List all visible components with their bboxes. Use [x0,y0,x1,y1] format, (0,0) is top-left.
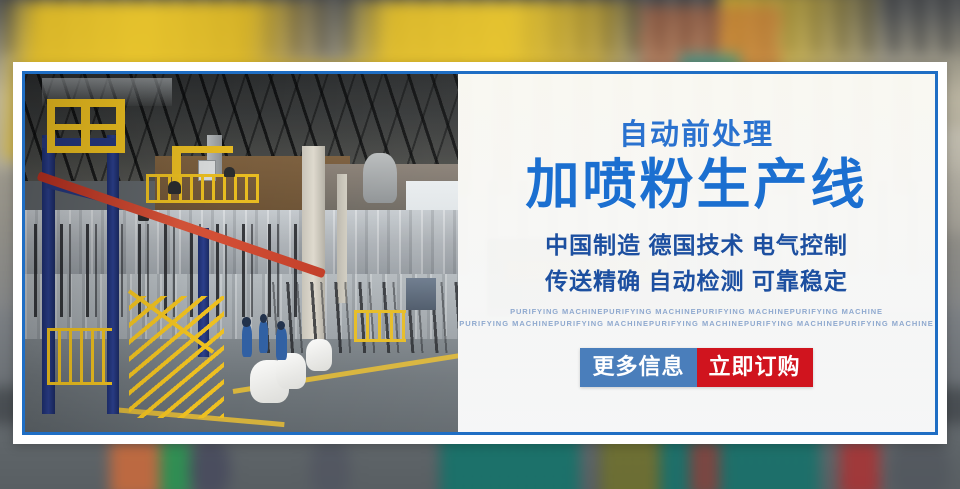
banner-card-inner-border: 自动前处理 加喷粉生产线 中国制造 德国技术 电气控制 传送精确 自动检测 可靠… [22,71,938,435]
background-grey-drum [190,440,230,489]
banner-headline: 加喷粉生产线 [458,154,935,217]
banner-card: 自动前处理 加喷粉生产线 中国制造 德国技术 电气控制 传送精确 自动检测 可靠… [13,62,947,444]
banner-ticker: PURIFYING MACHINEPURIFYING MACHINEPURIFY… [458,306,935,331]
ticker-line-2: PURIFYING MACHINEPURIFYING MACHINEPURIFY… [458,318,935,330]
background-red-object [840,440,880,489]
more-info-button[interactable]: 更多信息 [580,348,696,388]
background-machine-right [890,440,950,489]
banner-subline-2: 传送精确 自动检测 可靠稳定 [458,264,935,300]
background-green-drum [160,440,190,489]
banner-copy: 自动前处理 加喷粉生产线 中国制造 德国技术 电气控制 传送精确 自动检测 可靠… [458,119,935,388]
photo-shading-overlay [25,74,458,432]
production-line-photo [25,74,458,432]
background-orange-drum [110,440,160,489]
banner-eyebrow: 自动前处理 [458,119,935,152]
background-grey-drum-2 [310,440,350,489]
background-red-object-2 [690,440,720,489]
text-panel: 自动前处理 加喷粉生产线 中国制造 德国技术 电气控制 传送精确 自动检测 可靠… [458,74,935,432]
order-now-button[interactable]: 立即订购 [697,348,813,388]
cta-button-group: 更多信息 立即订购 [580,348,812,388]
ticker-line-1: PURIFYING MACHINEPURIFYING MACHINEPURIFY… [458,306,935,318]
banner-subline-1: 中国制造 德国技术 电气控制 [458,228,935,264]
